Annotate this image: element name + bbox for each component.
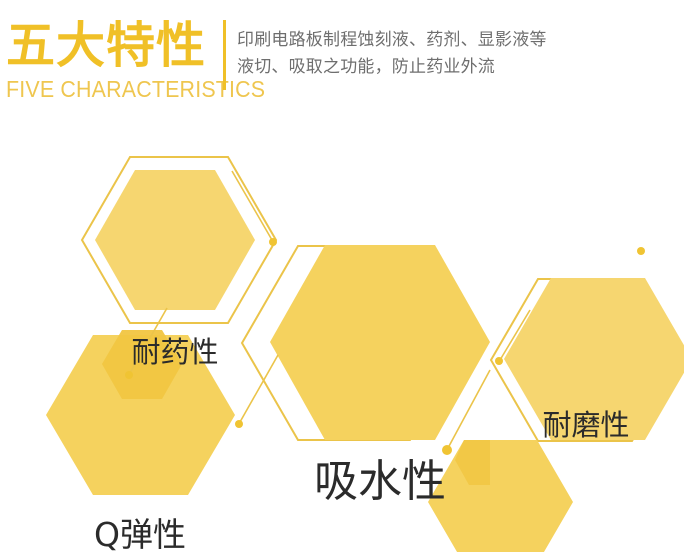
connector-dot-right-top [637, 247, 645, 255]
hexagon-naimo[interactable] [504, 278, 684, 440]
hexagon-blank-bottom[interactable] [428, 440, 573, 552]
connector-dot-bottom [442, 445, 452, 455]
connector-line-center-left [240, 355, 278, 422]
page-title-en: FIVE CHARACTERISTICS [6, 76, 203, 102]
title-block: 五大特性 FIVE CHARACTERISTICS [6, 18, 218, 102]
hexagon-diagram: 耐药性 Q弹性 吸水性 耐磨性 [0, 130, 684, 552]
infographic-page: 五大特性 FIVE CHARACTERISTICS 印刷电路板制程蚀刻液、药剂、… [0, 0, 684, 552]
connector-dot-naiyao-upper [269, 238, 277, 246]
subtitle-line-1: 印刷电路板制程蚀刻液、药剂、显影液等 [237, 27, 667, 54]
connector-dot-naiyao-lower [125, 371, 133, 379]
hexagon-naiyao[interactable] [95, 170, 255, 310]
header-banner: 五大特性 FIVE CHARACTERISTICS 印刷电路板制程蚀刻液、药剂、… [0, 0, 684, 130]
hexagon-canvas [0, 130, 684, 552]
hexagon-xishui[interactable] [270, 245, 490, 440]
title-divider [223, 20, 226, 90]
page-title-cn: 五大特性 [6, 18, 218, 74]
subtitle-line-2: 液切、吸取之功能，防止药业外流 [237, 54, 667, 81]
subtitle-block: 印刷电路板制程蚀刻液、药剂、显影液等 液切、吸取之功能，防止药业外流 [237, 27, 667, 81]
connector-dot-right [495, 357, 503, 365]
connector-dot-center-left [235, 420, 243, 428]
